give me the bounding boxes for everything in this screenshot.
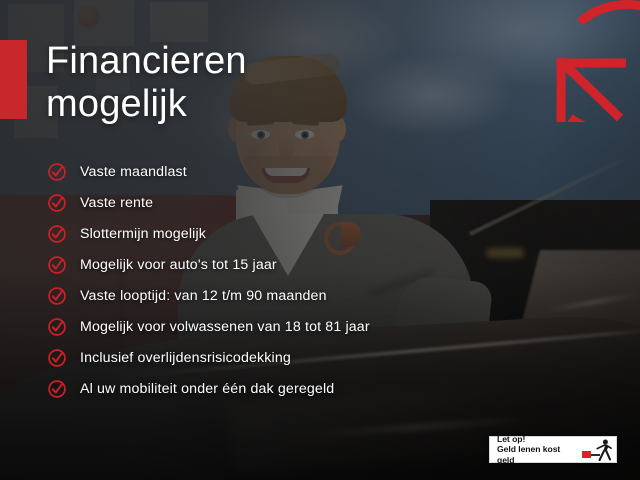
check-circle-icon bbox=[47, 348, 67, 368]
list-item: Al uw mobiliteit onder één dak geregeld bbox=[47, 373, 607, 404]
list-item: Vaste rente bbox=[47, 187, 607, 218]
list-item: Mogelijk voor volwassenen van 18 tot 81 … bbox=[47, 311, 607, 342]
afm-line-2: Geld lenen kost geld bbox=[497, 444, 579, 465]
list-item: Inclusief overlijdensrisicodekking bbox=[47, 342, 607, 373]
afm-warning-text: Let op! Geld lenen kost geld bbox=[497, 434, 591, 465]
list-item-label: Vaste rente bbox=[80, 195, 153, 211]
list-item: Mogelijk voor auto's tot 15 jaar bbox=[47, 249, 607, 280]
list-item: Vaste maandlast bbox=[47, 156, 607, 187]
page-title: Financieren mogelijk bbox=[46, 40, 376, 125]
check-circle-icon bbox=[47, 317, 67, 337]
list-item-label: Al uw mobiliteit onder één dak geregeld bbox=[80, 381, 334, 397]
status-badge: Let op! Geld lenen kost geld bbox=[489, 436, 617, 463]
list-item-label: Vaste maandlast bbox=[80, 164, 187, 180]
check-circle-icon bbox=[47, 162, 67, 182]
list-item-label: Vaste looptijd: van 12 t/m 90 maanden bbox=[80, 288, 327, 304]
walking-person-pulling-block-icon bbox=[593, 439, 612, 461]
list-item-label: Inclusief overlijdensrisicodekking bbox=[80, 350, 291, 366]
red-accent-bar bbox=[0, 40, 27, 119]
headline-line-2: mogelijk bbox=[46, 83, 376, 126]
red-circular-arrow-arc-icon bbox=[548, 0, 640, 122]
list-item-label: Mogelijk voor volwassenen van 18 tot 81 … bbox=[80, 319, 370, 335]
check-circle-icon bbox=[47, 286, 67, 306]
promo-banner: Financieren mogelijk Vaste maandlast Vas… bbox=[0, 0, 640, 480]
afm-line-2-row: Geld lenen kost geld bbox=[497, 444, 591, 465]
afm-block-icon bbox=[582, 451, 591, 458]
check-circle-icon bbox=[47, 255, 67, 275]
list-item: Slottermijn mogelijk bbox=[47, 218, 607, 249]
check-circle-icon bbox=[47, 193, 67, 213]
list-item: Vaste looptijd: van 12 t/m 90 maanden bbox=[47, 280, 607, 311]
afm-line-1: Let op! bbox=[497, 434, 591, 444]
list-item-label: Mogelijk voor auto's tot 15 jaar bbox=[80, 257, 277, 273]
check-circle-icon bbox=[47, 379, 67, 399]
benefits-checklist: Vaste maandlast Vaste rente Slottermijn … bbox=[47, 156, 607, 404]
list-item-label: Slottermijn mogelijk bbox=[80, 226, 206, 242]
check-circle-icon bbox=[47, 224, 67, 244]
headline-line-1: Financieren bbox=[46, 40, 376, 83]
